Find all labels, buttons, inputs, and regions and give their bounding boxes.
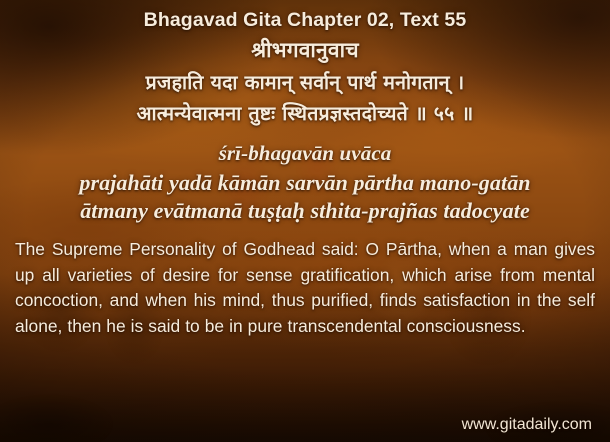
- website-watermark: www.gitadaily.com: [462, 416, 592, 434]
- gita-verse-card: Bhagavad Gita Chapter 02, Text 55 श्रीभग…: [0, 0, 610, 442]
- footer-row: www.gitadaily.com: [12, 416, 598, 442]
- devanagari-invocation: श्रीभगवानुवाच: [12, 35, 598, 67]
- transliteration-invocation: śrī-bhagavān uvāca: [12, 139, 598, 169]
- devanagari-verse-line-1: प्रजहाति यदा कामान् सर्वान् पार्थ मनोगता…: [12, 67, 598, 99]
- devanagari-verse-block: श्रीभगवानुवाच प्रजहाति यदा कामान् सर्वान…: [12, 35, 598, 130]
- transliteration-line-1: prajahāti yadā kāmān sarvān pārtha mano-…: [12, 169, 598, 197]
- card-content: Bhagavad Gita Chapter 02, Text 55 श्रीभग…: [0, 0, 610, 442]
- transliteration-block: śrī-bhagavān uvāca prajahāti yadā kāmān …: [12, 139, 598, 225]
- transliteration-line-2: ātmany evātmanā tuṣṭaḥ sthita-prajñas ta…: [12, 197, 598, 225]
- page-title: Bhagavad Gita Chapter 02, Text 55: [12, 8, 598, 32]
- devanagari-verse-line-2: आत्मन्येवात्मना तुष्टः स्थितप्रज्ञस्तदोच…: [12, 98, 598, 130]
- translation-paragraph: The Supreme Personality of Godhead said:…: [12, 237, 598, 339]
